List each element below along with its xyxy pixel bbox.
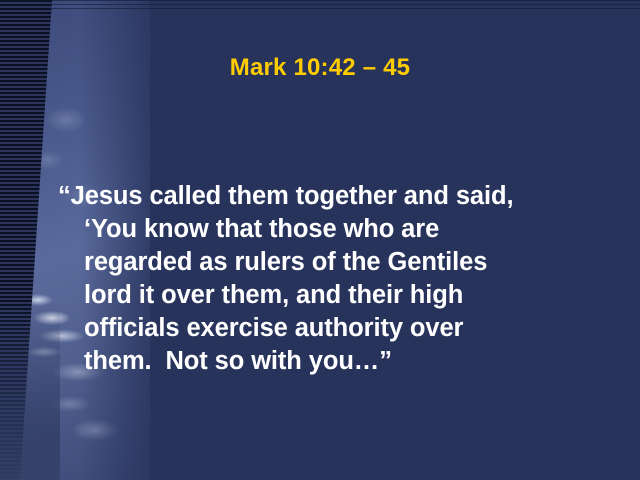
top-scanline-artifact: [0, 0, 640, 9]
body-text-line: them. Not so with you…”: [58, 345, 598, 378]
body-text-line: officials exercise authority over: [58, 312, 598, 345]
body-text-line: regarded as rulers of the Gentiles: [58, 246, 598, 279]
presentation-slide: Mark 10:42 – 45 “Jesus called them toget…: [0, 0, 640, 480]
body-text-line: ‘You know that those who are: [58, 213, 598, 246]
body-text-line: lord it over them, and their high: [58, 279, 598, 312]
left-striped-band-fade: [0, 300, 60, 480]
slide-body-text: “Jesus called them together and said, ‘Y…: [58, 180, 598, 378]
slide-title: Mark 10:42 – 45: [0, 54, 640, 82]
body-text-line: “Jesus called them together and said,: [58, 180, 598, 213]
